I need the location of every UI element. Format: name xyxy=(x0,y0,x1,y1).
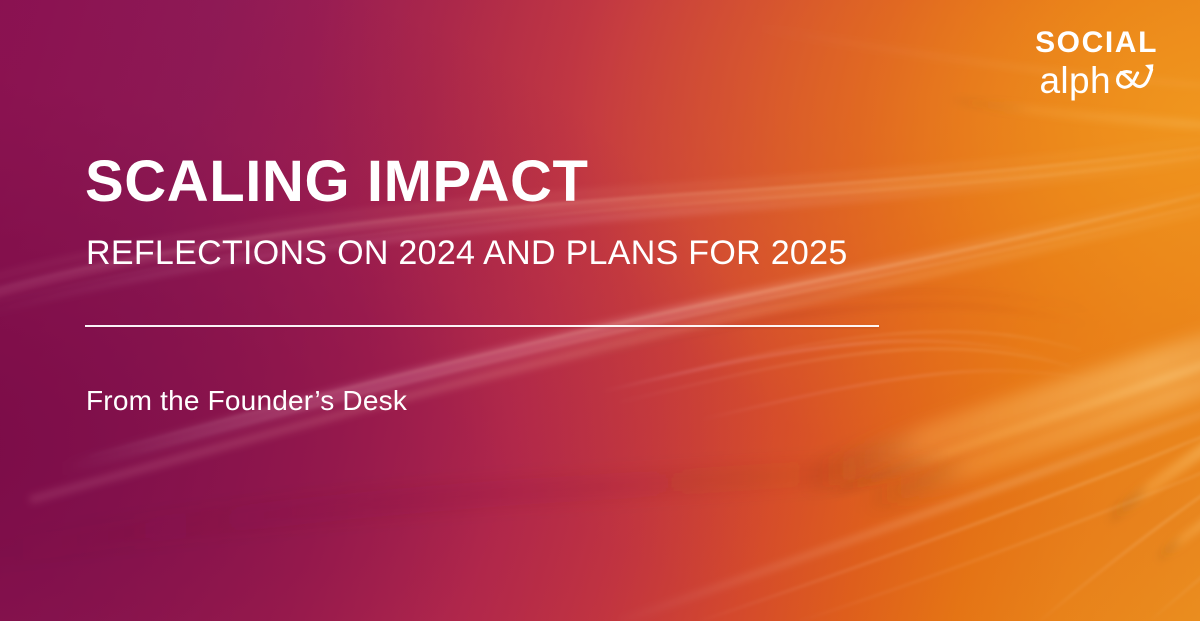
banner-content: SOCIAL alph SCALING IMPACT REFLECTIONS O… xyxy=(0,0,1200,621)
logo-wordmark-alpha-row: alph xyxy=(994,59,1158,99)
logo-wordmark-alpha: alph xyxy=(1039,62,1111,99)
social-alpha-logo[interactable]: SOCIAL alph xyxy=(994,28,1158,99)
banner: SOCIAL alph SCALING IMPACT REFLECTIONS O… xyxy=(0,0,1200,621)
title-divider xyxy=(85,325,879,327)
page-subtitle: REFLECTIONS ON 2024 AND PLANS FOR 2025 xyxy=(86,235,848,272)
byline-text: From the Founder’s Desk xyxy=(86,385,407,417)
alpha-arrow-icon xyxy=(1112,60,1158,96)
page-title: SCALING IMPACT xyxy=(85,152,589,212)
logo-wordmark-social: SOCIAL xyxy=(994,28,1158,58)
